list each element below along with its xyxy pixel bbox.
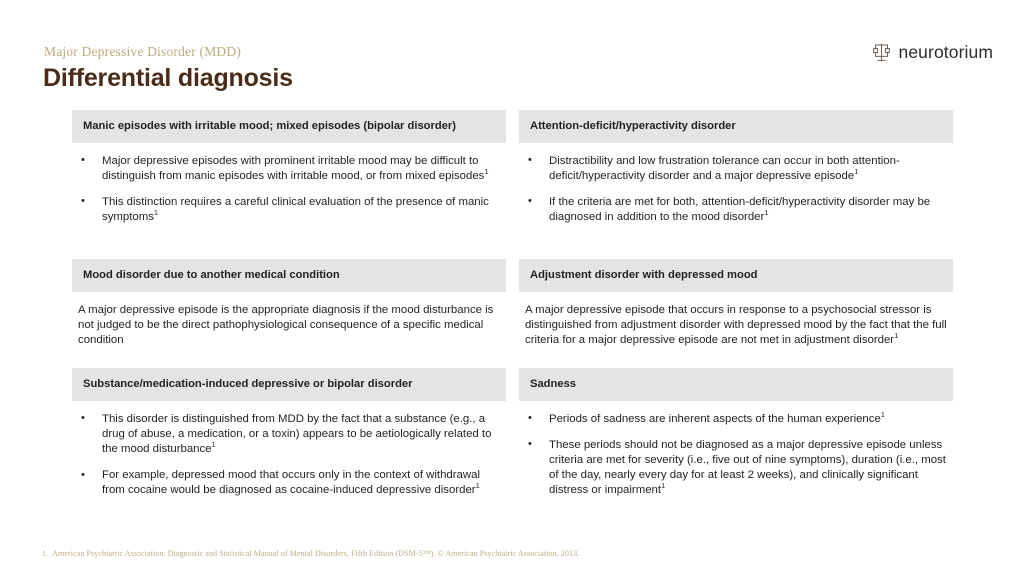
list-item: Distractibility and low frustration tole…	[524, 154, 947, 184]
list-item: If the criteria are met for both, attent…	[524, 195, 947, 225]
reference-marker: 1	[484, 167, 488, 176]
section-body: Major depressive episodes with prominent…	[72, 143, 506, 226]
section-adhd: Attention-deficit/hyperactivity disorder…	[519, 110, 953, 225]
reference-marker: 1	[881, 410, 885, 419]
section-substance-medication-induced: Substance/medication-induced depressive …	[72, 368, 506, 499]
reference-marker: 1	[661, 482, 665, 491]
reference-marker: 1	[894, 331, 898, 340]
list-item: For example, depressed mood that occurs …	[77, 468, 500, 498]
list-item: These periods should not be diagnosed as…	[524, 438, 947, 499]
page-title: Differential diagnosis	[43, 64, 293, 93]
brand-logo[interactable]: neurotorium	[871, 42, 993, 63]
list-item: This distinction requires a careful clin…	[77, 195, 500, 225]
section-sadness: SadnessPeriods of sadness are inherent a…	[519, 368, 953, 499]
section-paragraph: A major depressive episode that occurs i…	[524, 303, 947, 349]
bullet-list: This disorder is distinguished from MDD …	[77, 412, 500, 499]
section-heading: Attention-deficit/hyperactivity disorder	[519, 110, 953, 143]
list-item: Major depressive episodes with prominent…	[77, 154, 500, 184]
reference-marker: 1	[854, 167, 858, 176]
list-item: Periods of sadness are inherent aspects …	[524, 412, 947, 427]
section-mood-disorder-medical-condition: Mood disorder due to another medical con…	[72, 259, 506, 348]
section-body: This disorder is distinguished from MDD …	[72, 401, 506, 499]
reference-marker: 1	[154, 208, 158, 217]
slide-eyebrow: Major Depressive Disorder (MDD)	[44, 44, 241, 60]
brand-name: neurotorium	[899, 42, 993, 63]
neuron-tree-icon	[871, 42, 892, 63]
section-heading: Substance/medication-induced depressive …	[72, 368, 506, 401]
bullet-list: Major depressive episodes with prominent…	[77, 154, 500, 226]
bullet-list: Distractibility and low frustration tole…	[524, 154, 947, 226]
section-adjustment-disorder: Adjustment disorder with depressed moodA…	[519, 259, 953, 348]
section-body: Distractibility and low frustration tole…	[519, 143, 953, 226]
footnote: 1.American Psychiatric Association. Diag…	[42, 549, 579, 558]
bullet-list: Periods of sadness are inherent aspects …	[524, 412, 947, 499]
section-body: Periods of sadness are inherent aspects …	[519, 401, 953, 499]
slide-header: Major Depressive Disorder (MDD) Differen…	[0, 0, 1024, 100]
slide: Major Depressive Disorder (MDD) Differen…	[0, 0, 1024, 576]
section-body: A major depressive episode that occurs i…	[519, 292, 953, 349]
section-heading: Manic episodes with irritable mood; mixe…	[72, 110, 506, 143]
reference-marker: 1	[476, 482, 480, 491]
footnote-text: American Psychiatric Association. Diagno…	[52, 549, 579, 558]
list-item: This disorder is distinguished from MDD …	[77, 412, 500, 458]
reference-marker: 1	[764, 208, 768, 217]
section-body: A major depressive episode is the approp…	[72, 292, 506, 349]
section-heading: Mood disorder due to another medical con…	[72, 259, 506, 292]
section-paragraph: A major depressive episode is the approp…	[77, 303, 500, 349]
section-manic-episodes: Manic episodes with irritable mood; mixe…	[72, 110, 506, 225]
section-heading: Adjustment disorder with depressed mood	[519, 259, 953, 292]
reference-marker: 1	[212, 440, 216, 449]
footnote-number: 1.	[42, 549, 48, 558]
section-heading: Sadness	[519, 368, 953, 401]
